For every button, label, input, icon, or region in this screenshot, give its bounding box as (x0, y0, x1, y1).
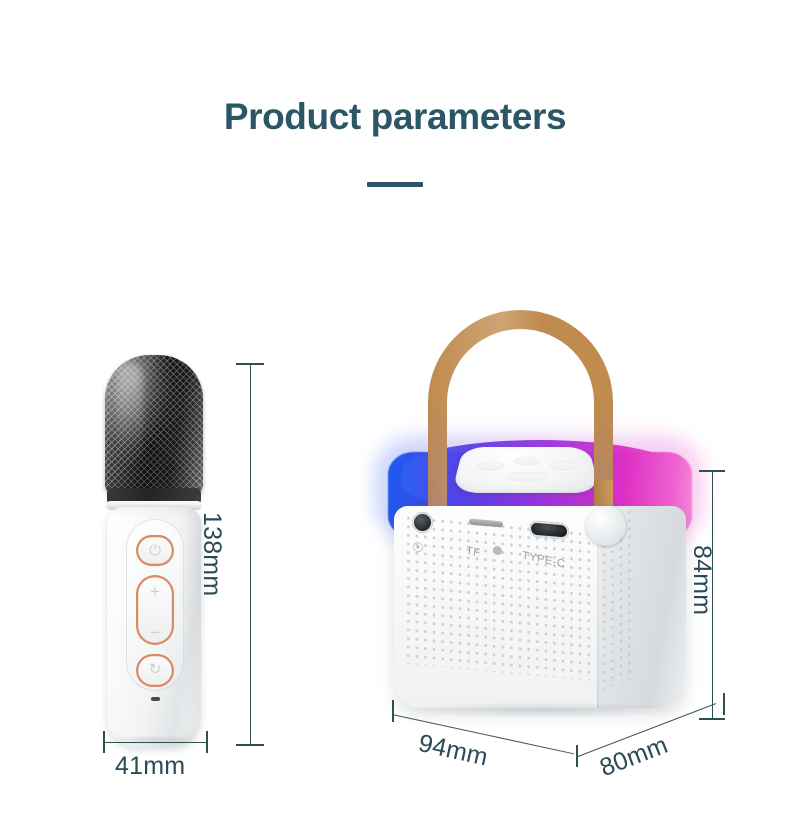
speaker-width-cap-left (392, 700, 394, 722)
mic-height-label: 138mm (197, 512, 226, 596)
microphone-mesh-head (105, 355, 203, 495)
handle-highlight (428, 310, 613, 525)
microphone-indicator-led (151, 697, 160, 701)
tf-indicator-dot (493, 546, 502, 556)
speaker-height-cap-bottom (699, 718, 725, 720)
mic-width-cap-left (103, 731, 105, 753)
power-icon: ⏻ (136, 543, 174, 558)
microphone-illustration: ⏻ + − ↻ (96, 355, 212, 747)
speaker-depth-cap-right (723, 693, 725, 715)
effect-icon: ↻ (136, 662, 174, 677)
speaker-height-cap-top (699, 470, 725, 472)
speaker-height-label: 84mm (687, 545, 716, 615)
mic-width-cap-right (206, 731, 208, 753)
volume-up-icon: + (136, 583, 174, 600)
strap-rivet-button[interactable] (586, 506, 626, 546)
product-parameters-page: Product parameters ⏻ + − ↻ 138mm 41mm (0, 0, 790, 828)
microphone-drop-shadow (104, 735, 204, 745)
usb-type-c-port[interactable] (529, 520, 569, 539)
mic-height-dimension-line (250, 363, 251, 745)
mic-height-cap-top (236, 363, 264, 365)
tf-card-slot[interactable] (469, 519, 503, 528)
volume-down-icon: − (136, 624, 174, 641)
mic-height-cap-bottom (236, 744, 264, 746)
head-highlight (117, 363, 143, 467)
mic-width-label: 41mm (115, 752, 185, 781)
microphone-body: ⏻ + − ↻ (107, 507, 201, 747)
tf-label: TF (465, 545, 481, 560)
page-title: Product parameters (0, 96, 790, 138)
speaker-port-row: ☉ TF TYPE-C (394, 506, 599, 568)
mic-width-dimension-line (103, 742, 207, 743)
speaker-illustration: ☉ TF TYPE-C (380, 310, 700, 740)
speaker-drop-shadow (398, 702, 688, 718)
title-divider (367, 182, 423, 187)
headphone-jack-port[interactable] (412, 512, 433, 533)
headphone-jack-icon: ☉ (411, 539, 425, 557)
type-c-label: TYPE-C (521, 550, 565, 571)
